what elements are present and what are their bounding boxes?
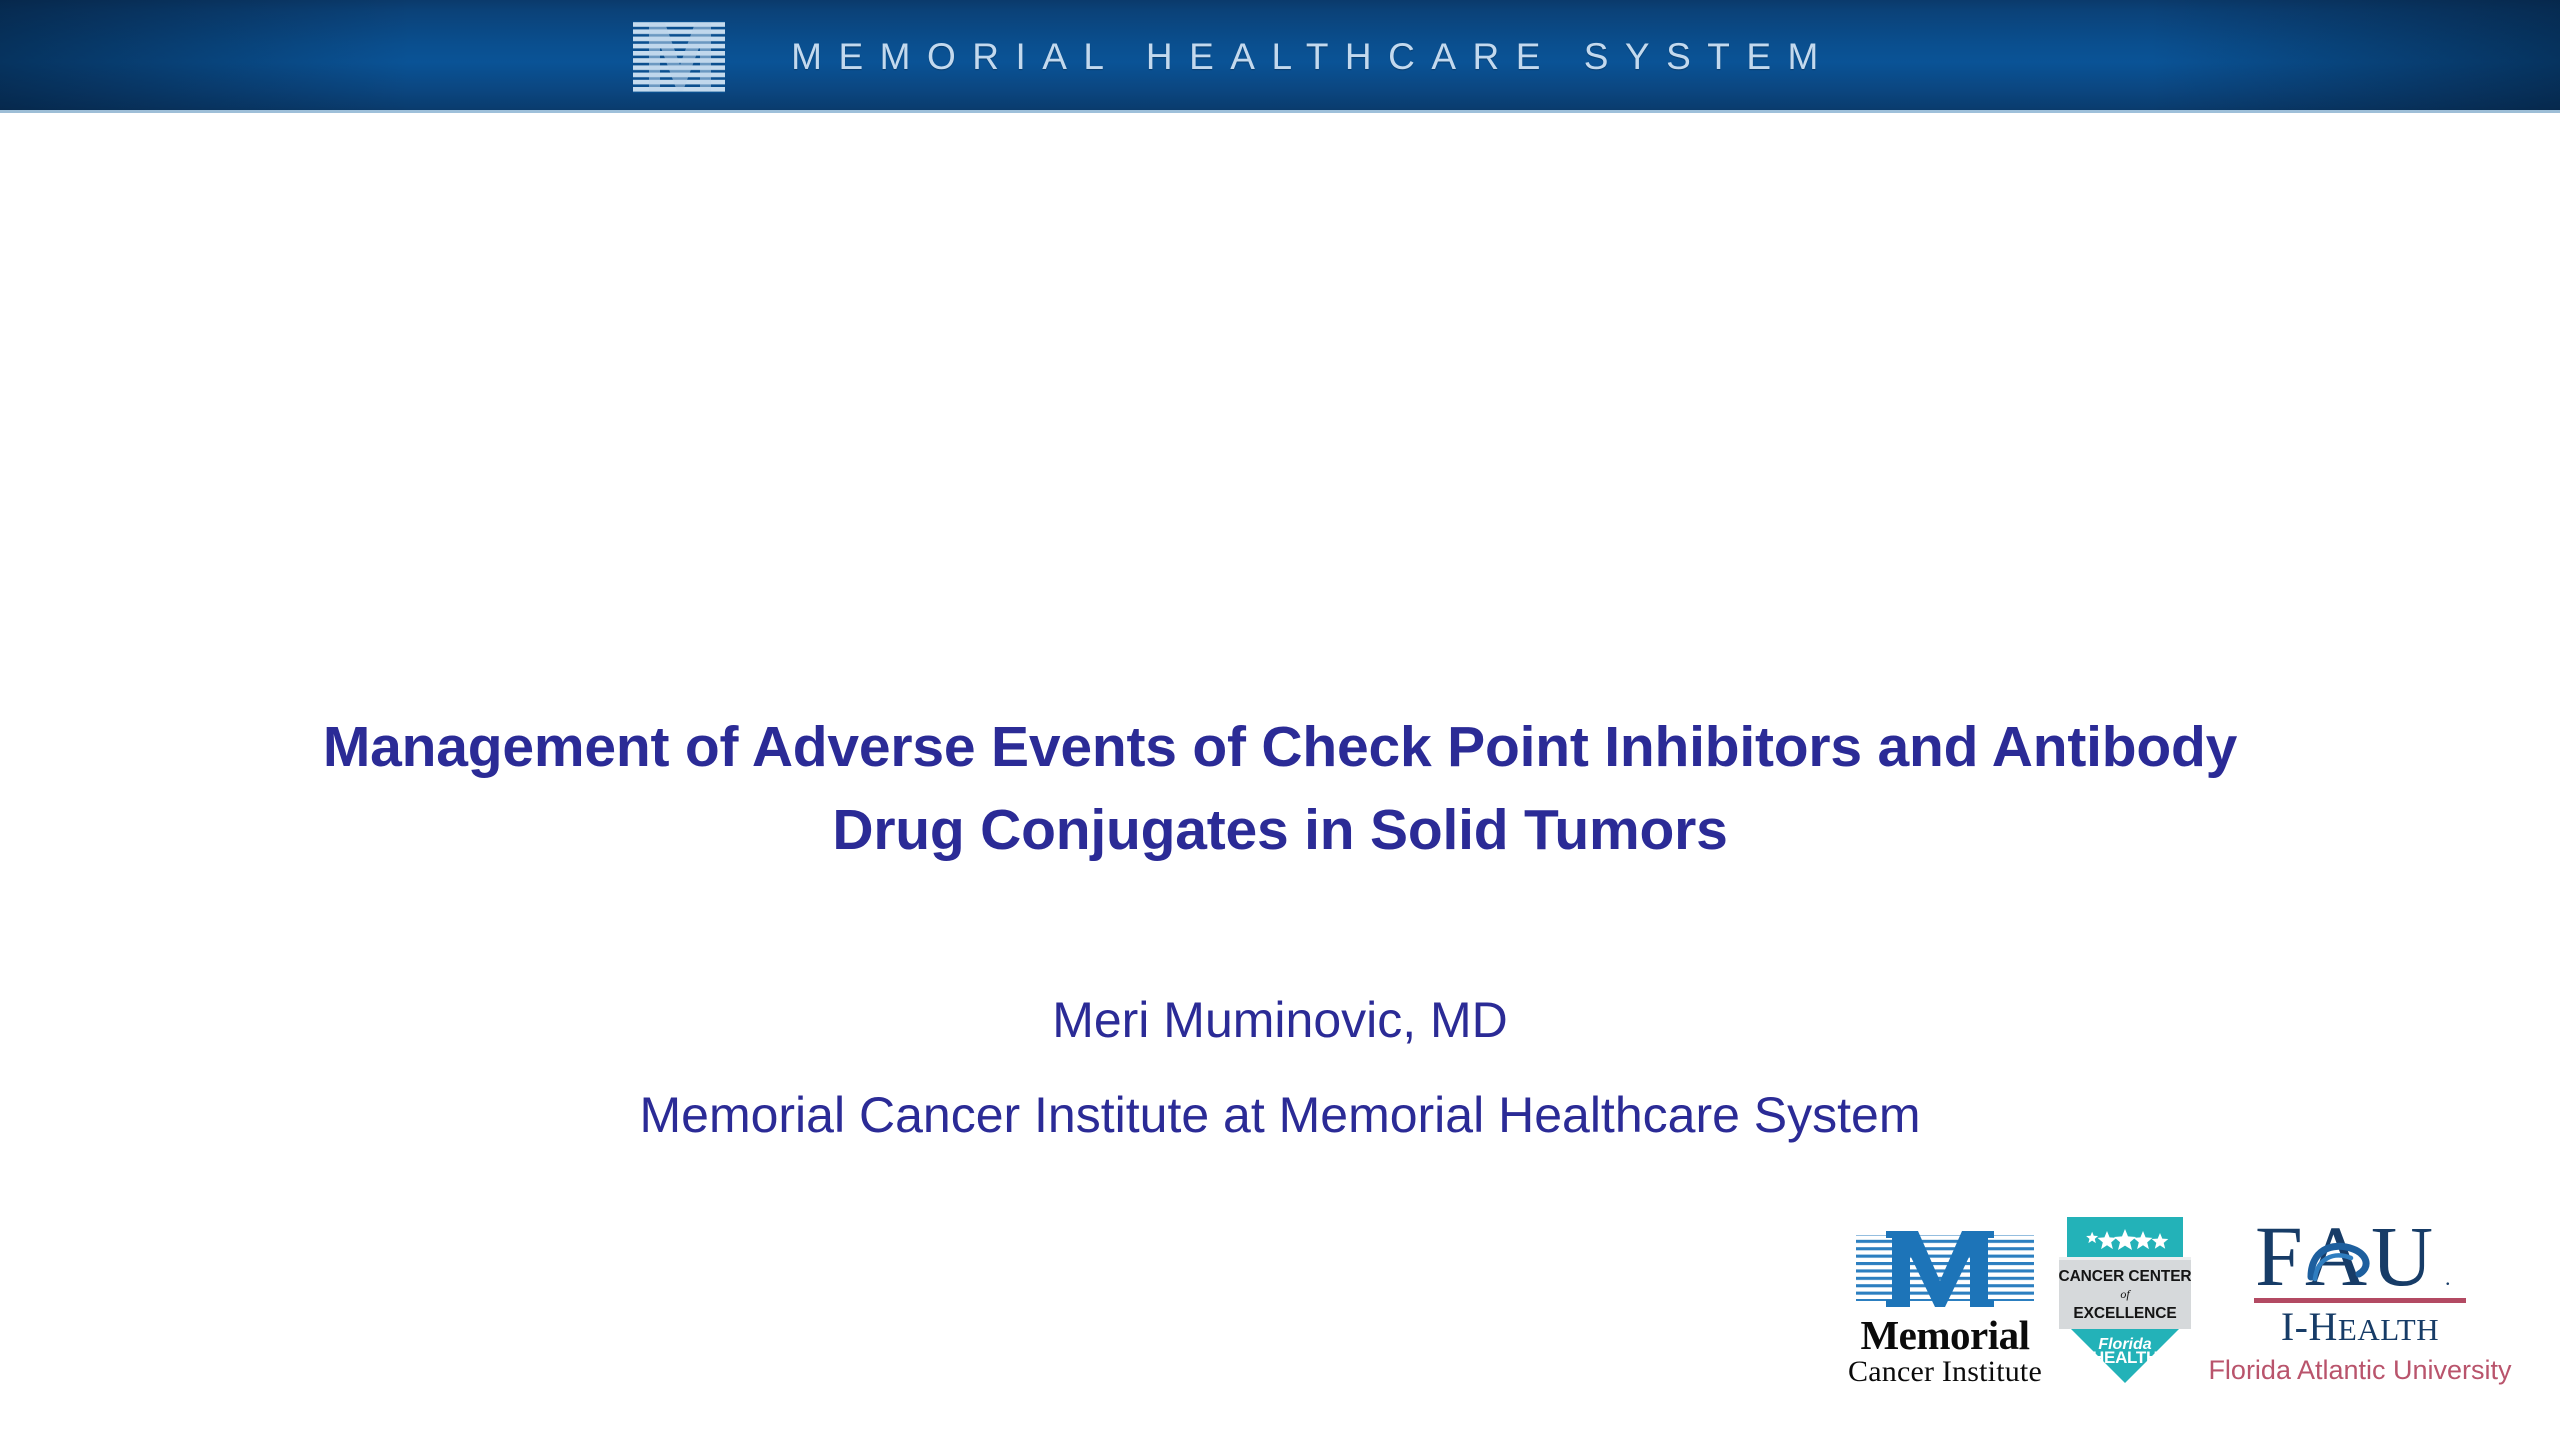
title-block: Management of Adverse Events of Check Po…	[0, 706, 2560, 872]
fau-university-name: Florida Atlantic University	[2208, 1357, 2511, 1384]
svg-text:.: .	[2445, 1265, 2451, 1290]
header-inner: MEMORIAL HEALTHCARE SYSTEM	[629, 15, 1835, 99]
memorial-m-striped-icon	[1850, 1225, 2040, 1313]
badge-line-3: EXCELLENCE	[2073, 1305, 2176, 1322]
health-word: HEALTH	[2092, 1348, 2158, 1367]
header-bar: MEMORIAL HEALTHCARE SYSTEM	[0, 0, 2560, 113]
partner-logo-row: Memorial Cancer Institute C	[1840, 1205, 2540, 1400]
page-title: Management of Adverse Events of Check Po…	[170, 706, 2390, 872]
title-slide: MEMORIAL HEALTHCARE SYSTEM Management of…	[0, 0, 2560, 1440]
svg-text:F: F	[2255, 1219, 2303, 1295]
fau-ihealth-wordmark: I-HEALTH	[2281, 1307, 2439, 1347]
fau-ihealth-i: I-	[2281, 1304, 2309, 1349]
badge-line-1: CANCER CENTER	[2059, 1268, 2191, 1285]
fau-ihealth-h: H	[2309, 1304, 2338, 1349]
author-name: Meri Muminovic, MD	[0, 995, 2560, 1045]
fau-ihealth-logo: F A U . I-HEALTH Florida Atlantic Univer…	[2200, 1205, 2520, 1384]
header-org-name: MEMORIAL HEALTHCARE SYSTEM	[791, 36, 1835, 78]
author-affiliation: Memorial Cancer Institute at Memorial He…	[0, 1090, 2560, 1140]
fau-wave-icon: F A U .	[2253, 1219, 2468, 1295]
title-line-1: Management of Adverse Events of Check Po…	[170, 706, 2390, 789]
memorial-cancer-institute-logo: Memorial Cancer Institute	[1840, 1205, 2050, 1388]
svg-text:U: U	[2371, 1219, 2433, 1295]
fau-ihealth-rest: EALTH	[2338, 1312, 2439, 1347]
byline-block: Meri Muminovic, MD Memorial Cancer Insti…	[0, 995, 2560, 1140]
mci-subtitle: Cancer Institute	[1848, 1356, 2042, 1388]
cancer-center-of-excellence-badge: CANCER CENTER of EXCELLENCE Florida HEAL…	[2050, 1205, 2200, 1388]
mci-name: Memorial	[1860, 1315, 2029, 1355]
title-line-2: Drug Conjugates in Solid Tumors	[170, 789, 2390, 872]
memorial-m-striped-icon	[629, 15, 729, 99]
fau-divider-rule	[2254, 1298, 2466, 1303]
